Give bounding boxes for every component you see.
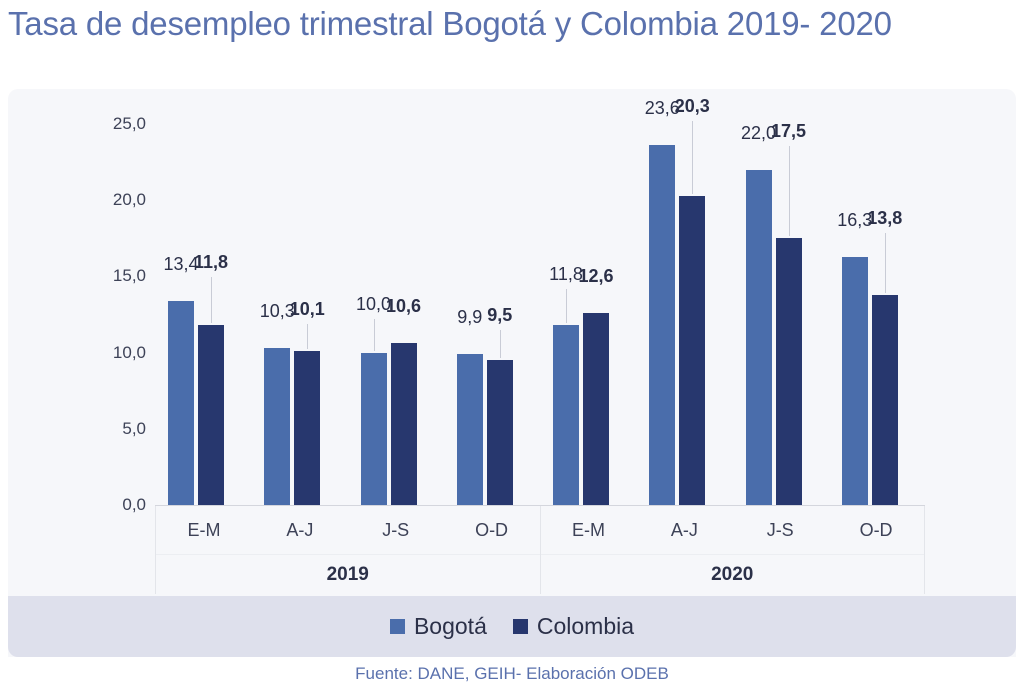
bar-colombia-7[interactable] bbox=[872, 295, 898, 505]
bar-label-colombia-6: 17,5 bbox=[771, 121, 806, 142]
category-axis: E-MA-JJ-SO-D2019E-MA-JJ-SO-D2020 bbox=[155, 506, 925, 594]
bar-bogot-4[interactable] bbox=[553, 325, 579, 505]
label-leader-line bbox=[211, 277, 212, 323]
bar-label-colombia-2: 10,6 bbox=[386, 296, 421, 317]
legend-swatch-icon bbox=[390, 619, 405, 634]
y-axis-tick: 20,0 bbox=[86, 190, 146, 210]
y-axis-tick: 15,0 bbox=[86, 266, 146, 286]
bar-group: 16,313,8 bbox=[829, 124, 925, 505]
y-axis-tick: 0,0 bbox=[86, 495, 146, 515]
bar-colombia-5[interactable] bbox=[679, 196, 705, 505]
bar-bogot-7[interactable] bbox=[842, 257, 868, 505]
bar-group: 10,010,6 bbox=[348, 124, 444, 505]
bar-group: 9,99,5 bbox=[444, 124, 540, 505]
quarter-label: J-S bbox=[348, 506, 444, 554]
bar-colombia-0[interactable] bbox=[198, 325, 224, 505]
legend-label: Colombia bbox=[537, 613, 634, 640]
year-label: 2020 bbox=[541, 555, 925, 594]
bar-group: 23,620,3 bbox=[636, 124, 732, 505]
bar-label-colombia-4: 12,6 bbox=[578, 266, 613, 287]
bar-colombia-1[interactable] bbox=[294, 351, 320, 505]
label-leader-line bbox=[307, 324, 308, 349]
page-title: Tasa de desempleo trimestral Bogotá y Co… bbox=[8, 2, 1018, 50]
bar-label-colombia-1: 10,1 bbox=[290, 299, 325, 320]
year-label: 2019 bbox=[156, 555, 540, 594]
bar-label-colombia-5: 20,3 bbox=[675, 96, 710, 117]
bar-label-colombia-7: 13,8 bbox=[867, 208, 902, 229]
quarter-label: E-M bbox=[156, 506, 252, 554]
bar-bogot-0[interactable] bbox=[168, 301, 194, 505]
legend-swatch-icon bbox=[513, 619, 528, 634]
y-axis-tick: 10,0 bbox=[86, 343, 146, 363]
year-block-2020: E-MA-JJ-SO-D2020 bbox=[540, 506, 926, 594]
bar-label-colombia-3: 9,5 bbox=[487, 305, 512, 326]
label-leader-line bbox=[885, 233, 886, 293]
bar-label-colombia-0: 11,8 bbox=[194, 252, 228, 273]
quarter-label: A-J bbox=[252, 506, 348, 554]
bar-group: 22,017,5 bbox=[733, 124, 829, 505]
quarter-label: E-M bbox=[541, 506, 637, 554]
bar-bogot-5[interactable] bbox=[649, 145, 675, 505]
bar-colombia-2[interactable] bbox=[391, 343, 417, 505]
y-axis-tick: 25,0 bbox=[86, 114, 146, 134]
label-leader-line bbox=[789, 146, 790, 237]
quarter-label: J-S bbox=[732, 506, 828, 554]
y-axis-tick: 5,0 bbox=[86, 419, 146, 439]
quarter-row: E-MA-JJ-SO-D bbox=[156, 506, 540, 555]
bar-bogot-1[interactable] bbox=[264, 348, 290, 505]
plot-area: 13,411,810,310,110,010,69,99,511,812,623… bbox=[155, 124, 925, 505]
chart-card: 25,020,015,010,05,00,0 13,411,810,310,11… bbox=[8, 89, 1016, 657]
quarter-label: O-D bbox=[828, 506, 924, 554]
year-block-2019: E-MA-JJ-SO-D2019 bbox=[155, 506, 540, 594]
legend-item-colombia[interactable]: Colombia bbox=[513, 613, 634, 640]
bar-colombia-3[interactable] bbox=[487, 360, 513, 505]
label-leader-line bbox=[500, 330, 501, 358]
bar-label-bogot-3: 9,9 bbox=[457, 307, 482, 328]
bar-bogot-3[interactable] bbox=[457, 354, 483, 505]
bar-colombia-6[interactable] bbox=[776, 238, 802, 505]
label-leader-line bbox=[692, 121, 693, 193]
bar-colombia-4[interactable] bbox=[583, 313, 609, 505]
y-axis: 25,020,015,010,05,00,0 bbox=[78, 124, 146, 505]
quarter-row: E-MA-JJ-SO-D bbox=[541, 506, 925, 555]
quarter-label: O-D bbox=[444, 506, 540, 554]
bar-group: 11,812,6 bbox=[540, 124, 636, 505]
bar-bogot-6[interactable] bbox=[746, 170, 772, 505]
label-leader-line bbox=[374, 319, 375, 350]
bar-group: 13,411,8 bbox=[155, 124, 251, 505]
bar-group: 10,310,1 bbox=[251, 124, 347, 505]
legend: BogotáColombia bbox=[8, 596, 1016, 657]
quarter-label: A-J bbox=[636, 506, 732, 554]
legend-label: Bogotá bbox=[414, 613, 487, 640]
label-leader-line bbox=[566, 289, 567, 323]
source-note: Fuente: DANE, GEIH- Elaboración ODEB bbox=[0, 664, 1024, 684]
bar-bogot-2[interactable] bbox=[361, 353, 387, 505]
legend-item-bogot[interactable]: Bogotá bbox=[390, 613, 487, 640]
